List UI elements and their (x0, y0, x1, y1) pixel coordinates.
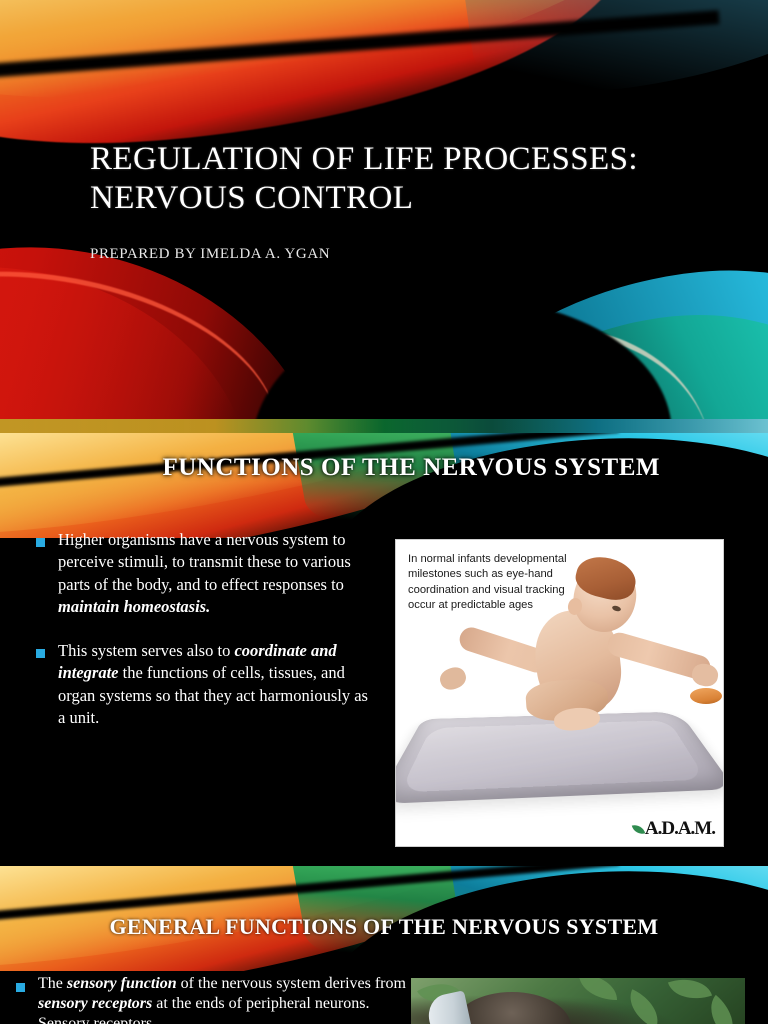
slide-general-functions-of-the-nervous-system: GENERAL FUNCTIONS OF THE NERVOUS SYSTEM … (0, 866, 768, 1024)
pillow-highlight-shape (400, 720, 706, 792)
infant-right-hand (690, 662, 720, 689)
bullet-square-icon (36, 538, 45, 547)
bullet-square-icon (16, 983, 25, 992)
title-block: REGULATION OF LIFE PROCESSES: NERVOUS CO… (90, 140, 710, 263)
leaf-shape (621, 989, 666, 1024)
bullet-text: Higher organisms have a nervous system t… (58, 529, 376, 618)
page-title: REGULATION OF LIFE PROCESSES: NERVOUS CO… (90, 140, 710, 218)
decor-cyan-glow-top-right (460, 0, 768, 108)
slide-functions-of-the-nervous-system: FUNCTIONS OF THE NERVOUS SYSTEM Higher o… (0, 433, 768, 866)
bullet-text: This system serves also to coordinate an… (58, 640, 376, 729)
leaf-icon (632, 822, 645, 835)
bullet-segment-emphasis: maintain homeostasis. (58, 597, 210, 616)
bullet-segment: The (38, 975, 67, 992)
slide-heading: GENERAL FUNCTIONS OF THE NERVOUS SYSTEM (0, 914, 768, 940)
slide-title: REGULATION OF LIFE PROCESSES: NERVOUS CO… (0, 0, 768, 433)
adam-credit-label: A.D.A.M. (645, 818, 715, 840)
list-item: The sensory function of the nervous syst… (16, 974, 416, 1024)
leaf-shape (668, 978, 712, 1007)
bullet-text: The sensory function of the nervous syst… (38, 974, 416, 1024)
bullet-list: Higher organisms have a nervous system t… (36, 529, 376, 751)
bullet-segment: Higher organisms have a nervous system t… (58, 530, 351, 594)
presentation-document: REGULATION OF LIFE PROCESSES: NERVOUS CO… (0, 0, 768, 1024)
bullet-segment-emphasis: sensory receptors (38, 995, 152, 1012)
list-item: Higher organisms have a nervous system t… (36, 529, 376, 618)
person-head (453, 992, 571, 1024)
infant-left-hand (437, 664, 469, 693)
decor-header-band (0, 433, 768, 538)
bullet-segment: This system serves also to (58, 641, 234, 660)
leaf-shape (579, 978, 617, 1000)
infant-illustration-figure: In normal infants developmental mileston… (395, 539, 724, 847)
slide-heading: FUNCTIONS OF THE NERVOUS SYSTEM (60, 451, 660, 484)
bullet-segment: of the nervous system derives from (177, 975, 406, 992)
bullet-list: The sensory function of the nervous syst… (16, 974, 416, 1024)
bullet-square-icon (36, 649, 45, 658)
list-item: This system serves also to coordinate an… (36, 640, 376, 729)
adam-credit: A.D.A.M. (633, 818, 715, 840)
foliage-photo-figure (411, 978, 745, 1024)
figure-caption: In normal infants developmental mileston… (408, 552, 583, 614)
title-subtitle: PREPARED BY IMELDA A. YGAN (90, 246, 710, 263)
decor-bottom-strip-shadow (0, 419, 768, 433)
toy-object (690, 688, 722, 704)
leaf-shape (699, 995, 745, 1024)
bullet-segment-emphasis: sensory function (67, 975, 177, 992)
